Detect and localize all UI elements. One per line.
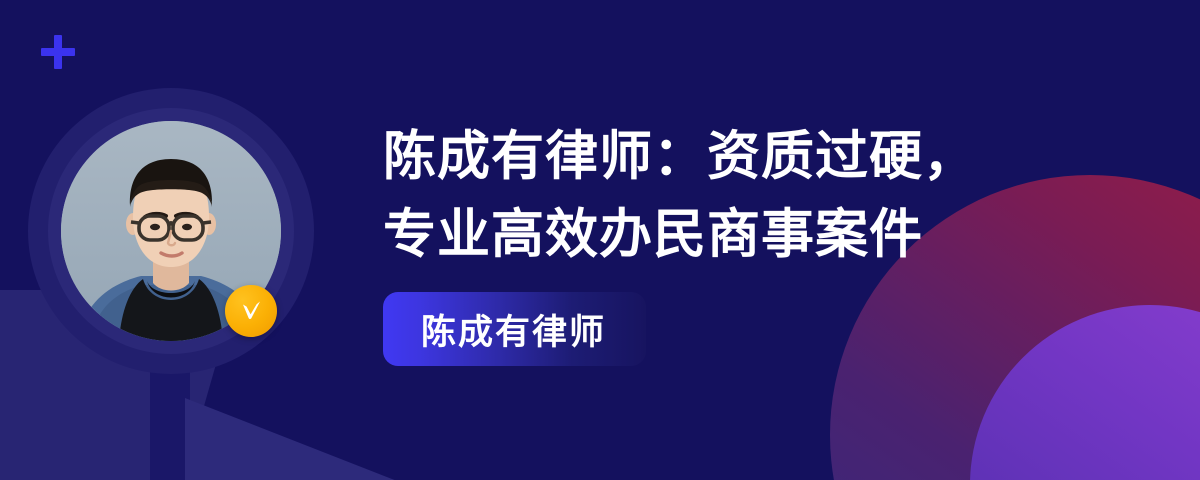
plus-icon	[41, 35, 75, 69]
lawyer-promo-banner: 陈成有律师：资质过硬， 专业高效办民商事案件 陈成有律师	[0, 0, 1200, 480]
avatar	[48, 108, 294, 354]
page-title: 陈成有律师：资质过硬， 专业高效办民商事案件	[383, 118, 1083, 274]
headline-line-2: 专业高效办民商事案件	[383, 196, 1083, 274]
headline-line-1: 陈成有律师：资质过硬，	[383, 118, 1083, 196]
lawyer-name-button[interactable]: 陈成有律师	[383, 292, 646, 366]
content-column: 陈成有律师：资质过硬， 专业高效办民商事案件 陈成有律师	[383, 118, 1083, 366]
verified-badge	[225, 285, 277, 337]
